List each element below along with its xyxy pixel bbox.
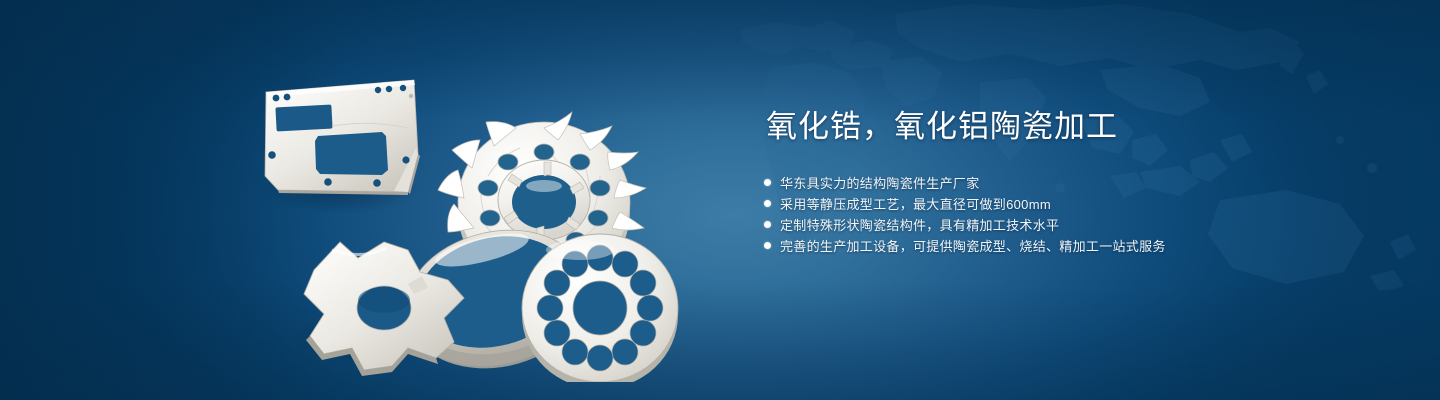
ceramic-perforated-disc xyxy=(522,234,678,382)
list-item: 华东具实力的结构陶瓷件生产厂家 xyxy=(764,172,1324,193)
list-item: 完善的生产加工设备，可提供陶瓷成型、烧结、精加工一站式服务 xyxy=(764,235,1324,256)
bullet-dot-icon xyxy=(764,242,771,249)
feature-text: 华东具实力的结构陶瓷件生产厂家 xyxy=(780,173,980,192)
bullet-dot-icon xyxy=(764,200,771,207)
feature-text: 采用等静压成型工艺，最大直径可做到600mm xyxy=(780,194,1051,213)
bullet-dot-icon xyxy=(764,221,771,228)
bullet-dot-icon xyxy=(764,179,771,186)
ceramic-products-photo xyxy=(232,36,702,382)
hero-banner: 氧化锆，氧化铝陶瓷加工 华东具实力的结构陶瓷件生产厂家 采用等静压成型工艺，最大… xyxy=(0,0,1440,400)
page-title: 氧化锆，氧化铝陶瓷加工 xyxy=(766,106,1324,148)
feature-text: 定制特殊形状陶瓷结构件，具有精加工技术水平 xyxy=(780,215,1059,234)
list-item: 定制特殊形状陶瓷结构件，具有精加工技术水平 xyxy=(764,214,1324,235)
feature-text: 完善的生产加工设备，可提供陶瓷成型、烧结、精加工一站式服务 xyxy=(780,236,1166,255)
feature-list: 华东具实力的结构陶瓷件生产厂家 采用等静压成型工艺，最大直径可做到600mm 定… xyxy=(764,172,1324,256)
ceramic-flat-plate xyxy=(265,80,420,195)
banner-text-block: 氧化锆，氧化铝陶瓷加工 华东具实力的结构陶瓷件生产厂家 采用等静压成型工艺，最大… xyxy=(764,106,1324,256)
list-item: 采用等静压成型工艺，最大直径可做到600mm xyxy=(764,193,1324,214)
